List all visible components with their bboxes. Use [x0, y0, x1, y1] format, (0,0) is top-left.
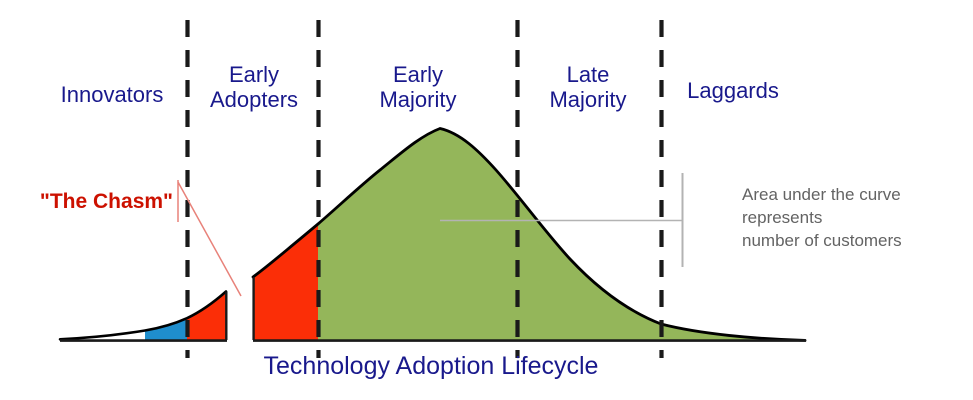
early-adopters-area-fill-right: [253, 224, 318, 340]
segment-label-early-adopters: Early Adopters: [190, 62, 318, 112]
technology-adoption-lifecycle-diagram: Innovators Early Adopters Early Majority…: [0, 0, 973, 400]
segment-label-late-majority: Late Majority: [505, 62, 671, 112]
chasm-label: "The Chasm": [18, 190, 173, 214]
segment-label-innovators: Innovators: [22, 82, 202, 107]
area-under-curve-note: Area under the curve represents number o…: [742, 183, 968, 252]
segment-label-early-majority: Early Majority: [330, 62, 506, 112]
segment-label-laggards: Laggards: [660, 78, 806, 103]
chart-title: Technology Adoption Lifecycle: [205, 352, 657, 381]
